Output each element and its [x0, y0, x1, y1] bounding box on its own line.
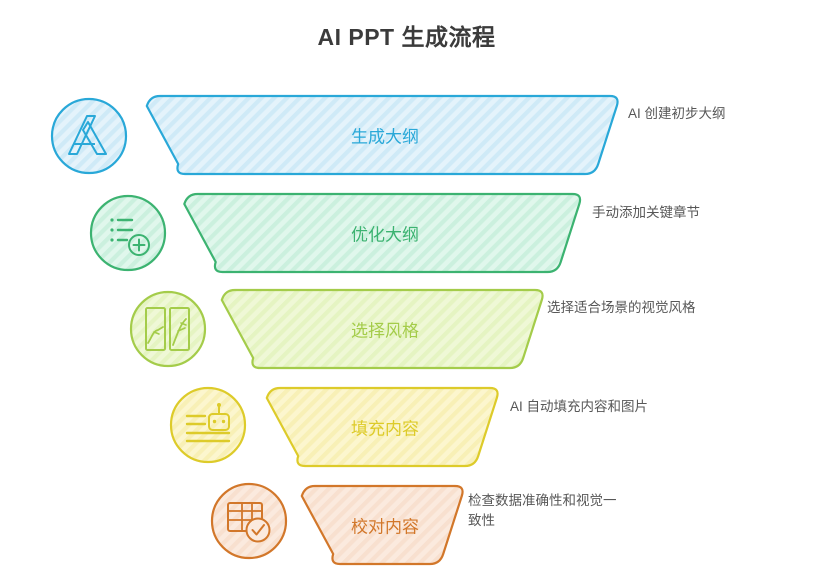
- funnel-diagram: [0, 0, 813, 587]
- stage-note-3: 选择适合场景的视觉风格: [547, 298, 697, 318]
- funnel-stage-2[interactable]: [184, 194, 580, 272]
- logo-a-icon[interactable]: [52, 99, 126, 173]
- list-add-icon[interactable]: [91, 196, 165, 270]
- funnel-stage-4[interactable]: [267, 388, 498, 466]
- funnel-stage-3[interactable]: [222, 290, 543, 368]
- stage-note-2: 手动添加关键章节: [592, 203, 742, 223]
- stage-note-4: AI 自动填充内容和图片: [510, 397, 660, 417]
- funnel-stage-5[interactable]: [302, 486, 463, 564]
- style-panels-icon[interactable]: [131, 292, 205, 366]
- table-check-icon[interactable]: [212, 484, 286, 558]
- stage-note-5: 检查数据准确性和视觉一致性: [468, 491, 618, 531]
- funnel-stage-1[interactable]: [147, 96, 618, 174]
- stage-note-1: AI 创建初步大纲: [628, 104, 778, 124]
- robot-content-icon[interactable]: [171, 388, 245, 462]
